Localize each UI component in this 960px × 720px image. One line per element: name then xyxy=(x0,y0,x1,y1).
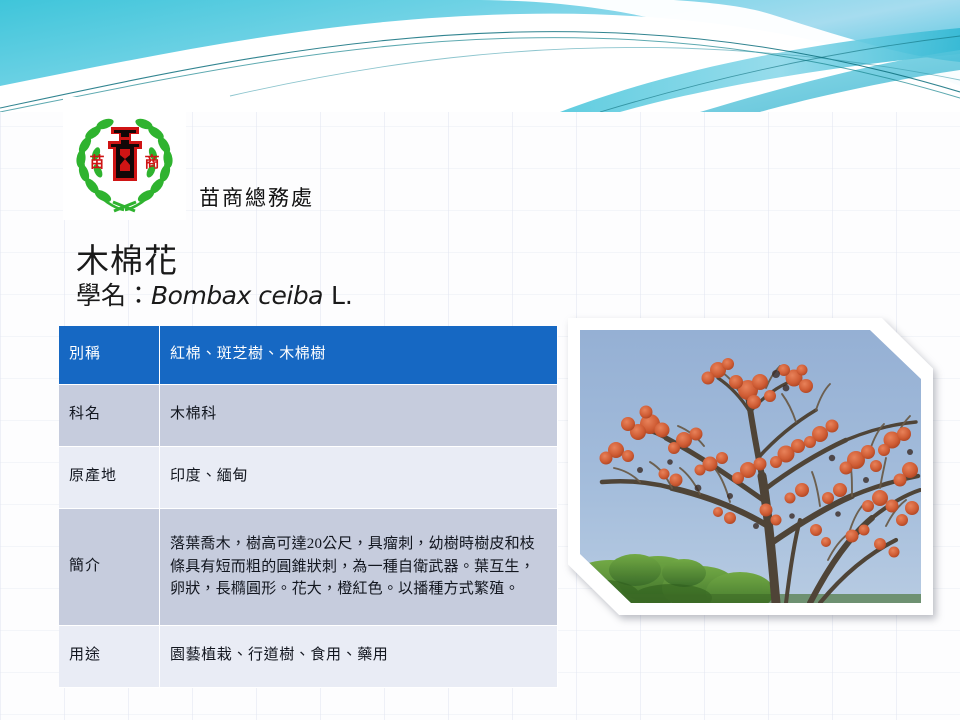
scientific-name-binomial: Bombax ceiba xyxy=(151,281,323,310)
kapok-tree-photo-card xyxy=(568,318,933,615)
scientific-name-authority: L. xyxy=(323,281,353,310)
row-key: 簡介 xyxy=(59,509,160,626)
kapok-tree-photo-svg xyxy=(580,330,921,603)
table-row: 用途 園藝植栽、行道樹、食用、藥用 xyxy=(59,626,558,688)
table-row: 科名 木棉科 xyxy=(59,385,558,447)
row-value: 紅棉、斑芝樹、木棉樹 xyxy=(160,326,558,385)
table-row: 原產地 印度、緬甸 xyxy=(59,447,558,509)
row-value: 園藝植栽、行道樹、食用、藥用 xyxy=(160,626,558,688)
row-value: 落葉喬木，樹高可達20公尺，具瘤刺，幼樹時樹皮和枝條具有短而粗的圓錐狀刺，為一種… xyxy=(160,509,558,626)
table-row: 別稱 紅棉、斑芝樹、木棉樹 xyxy=(59,326,558,385)
row-key: 科名 xyxy=(59,385,160,447)
header-wave-decoration xyxy=(0,0,960,112)
row-key: 用途 xyxy=(59,626,160,688)
scientific-name-label: 學名： xyxy=(76,281,151,310)
row-value: 印度、緬甸 xyxy=(160,447,558,509)
svg-text:商: 商 xyxy=(144,153,159,171)
plant-info-table: 別稱 紅棉、斑芝樹、木棉樹 科名 木棉科 原產地 印度、緬甸 簡介 落葉喬木，樹… xyxy=(59,326,558,688)
kapok-tree-photo xyxy=(580,330,921,603)
svg-text:苗: 苗 xyxy=(89,154,104,171)
row-value: 木棉科 xyxy=(160,385,558,447)
row-key: 別稱 xyxy=(59,326,160,385)
organization-name: 苗商總務處 xyxy=(199,182,314,212)
scientific-name-line: 學名：Bombax ceiba L. xyxy=(76,276,353,312)
school-laurel-wreath-logo: 苗 商 xyxy=(63,97,186,220)
table-row: 簡介 落葉喬木，樹高可達20公尺，具瘤刺，幼樹時樹皮和枝條具有短而粗的圓錐狀刺，… xyxy=(59,509,558,626)
page-title: 木棉花 xyxy=(76,234,178,282)
slide-canvas: 苗 商 苗商總務處 木棉花 學名：Bombax ceiba L. 別稱 紅棉、斑… xyxy=(0,0,960,720)
row-key: 原產地 xyxy=(59,447,160,509)
